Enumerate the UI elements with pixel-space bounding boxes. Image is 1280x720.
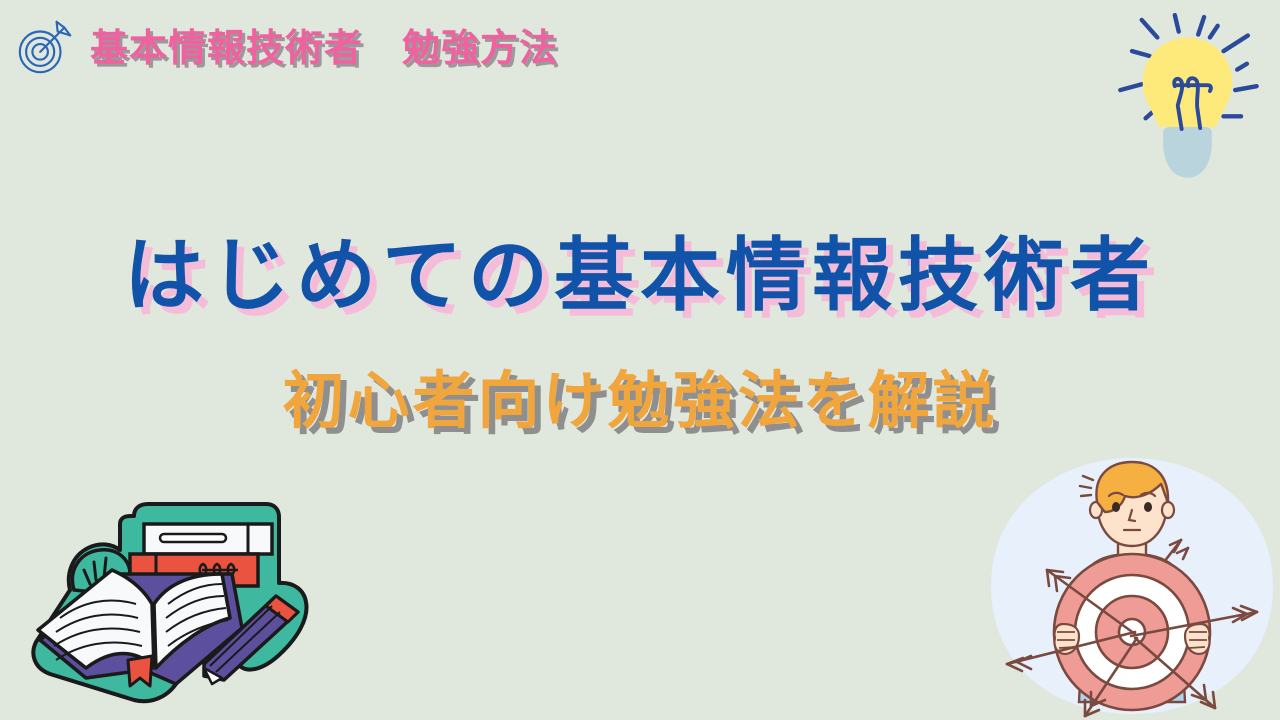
hand-right	[1185, 624, 1210, 654]
page-subtitle: 初心者向け勉強法を解説	[0, 370, 1280, 432]
person-holding-target-illustration	[985, 452, 1280, 720]
header-bar: 基本情報技術者 勉強方法	[0, 0, 1280, 100]
white-book-label	[160, 534, 226, 542]
bulb-base	[1163, 127, 1212, 178]
books-and-pencil-illustration	[26, 478, 336, 718]
target-dart-icon	[14, 16, 76, 78]
ear-right	[1162, 502, 1174, 518]
page-title: はじめての基本情報技術者	[0, 236, 1280, 316]
header-title: 基本情報技術者 勉強方法	[90, 29, 558, 67]
slide-canvas: 基本情報技術者 勉強方法 はじめての基本情報技術者 初心者向け勉強法を解説	[0, 0, 1280, 720]
light-bulb-illustration	[1095, 2, 1280, 182]
